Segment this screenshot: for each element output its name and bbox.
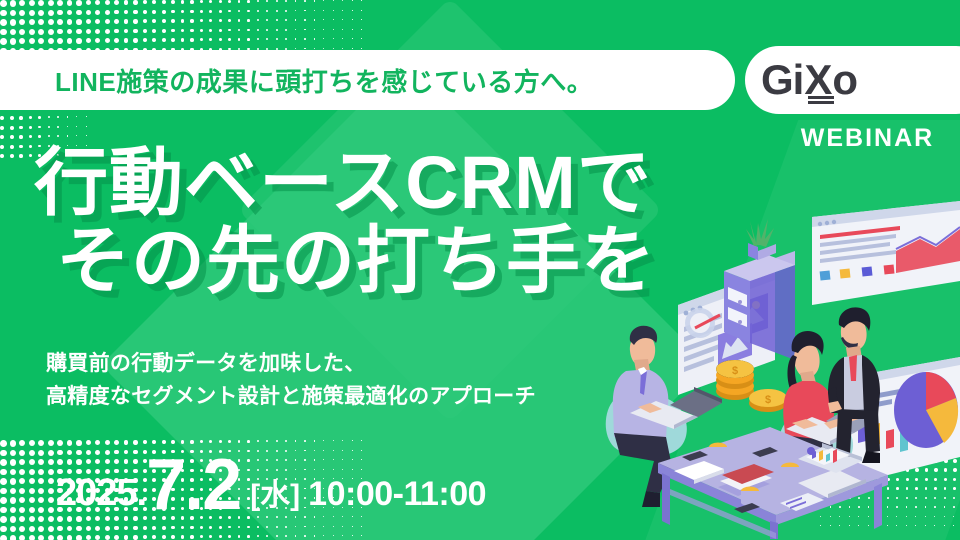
webinar-banner: LINE施策の成果に頭打ちを感じている方へ。 GiXo WEBINAR 行動ベー… bbox=[0, 0, 960, 540]
schedule-year: 2025. bbox=[56, 472, 146, 515]
main-title-line-2: その先の打ち手を bbox=[34, 222, 656, 300]
logo-letter-x: X bbox=[804, 59, 831, 101]
mug bbox=[741, 487, 759, 507]
subtitle-line-1: 購買前の行動データを加味した、 bbox=[46, 348, 536, 381]
schedule-day-of-week: [水] bbox=[250, 470, 300, 514]
subtitle: 購買前の行動データを加味した、 高精度なセグメント設計と施策最適化のアプローチ bbox=[46, 348, 536, 413]
svg-text:$: $ bbox=[765, 394, 771, 406]
halftone-dots-top-left bbox=[0, 0, 470, 46]
logo-pill: GiXo bbox=[745, 46, 960, 114]
mug bbox=[709, 443, 727, 463]
subtitle-line-2: 高精度なセグメント設計と施策最適化のアプローチ bbox=[46, 381, 536, 414]
panel-area-chart bbox=[812, 201, 960, 305]
schedule: 2025. 7.2 [水] 10:00-11:00 bbox=[56, 440, 486, 522]
schedule-month-day: 7.2 bbox=[146, 444, 240, 526]
catchcopy-pill: LINE施策の成果に頭打ちを感じている方へ。 bbox=[0, 50, 735, 110]
svg-text:$: $ bbox=[732, 365, 738, 377]
coins-stack: $ $ bbox=[716, 360, 787, 412]
main-title-line-1: 行動ベースCRMで bbox=[34, 144, 656, 222]
schedule-time: 10:00-11:00 bbox=[308, 475, 486, 514]
logo-letter-i: i bbox=[793, 59, 804, 101]
logo-letter-o: o bbox=[832, 59, 857, 101]
main-title: 行動ベースCRMで その先の打ち手を bbox=[34, 144, 656, 301]
mug bbox=[781, 463, 799, 483]
gixo-logo: GiXo bbox=[761, 59, 857, 101]
catchcopy-text: LINE施策の成果に頭打ちを感じている方へ。 bbox=[55, 62, 593, 99]
webinar-label: WEBINAR bbox=[745, 124, 960, 153]
logo-letter-g: G bbox=[761, 59, 793, 101]
